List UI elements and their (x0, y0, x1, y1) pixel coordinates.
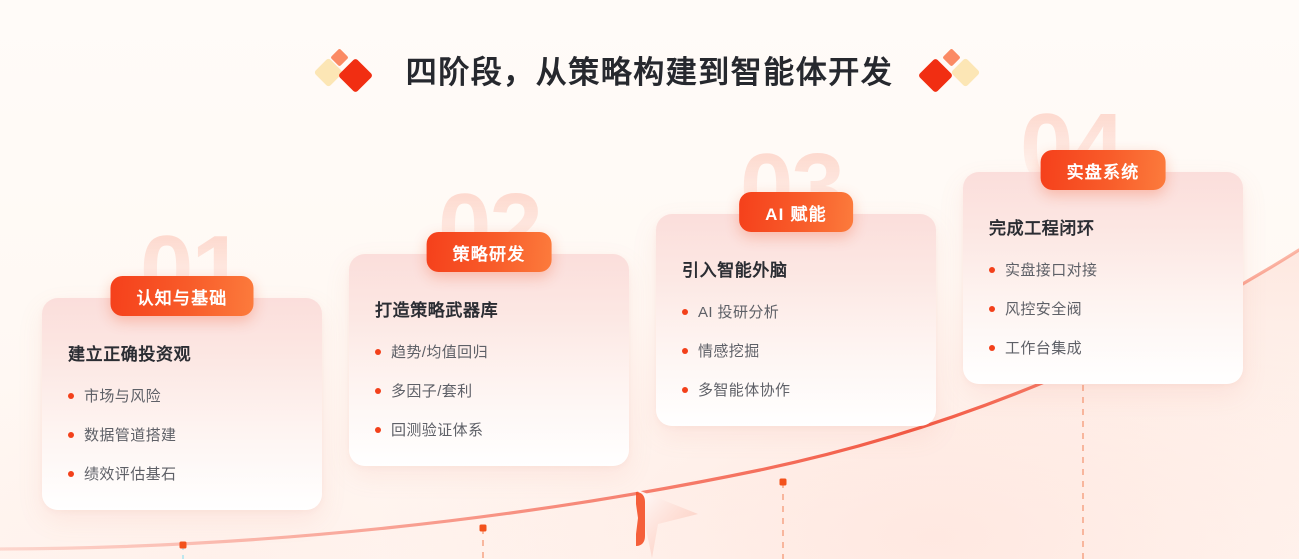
bullet-dot-icon (375, 427, 381, 433)
page-title-row: 四阶段，从策略构建到智能体开发 (0, 50, 1299, 94)
stage-item: 情感挖掘 (682, 340, 910, 361)
stage-item-label: AI 投研分析 (698, 301, 779, 322)
stage-card-2[interactable]: 策略研发 打造策略武器库 趋势/均值回归 多因子/套利 回测验证体系 (349, 254, 629, 466)
bullet-dot-icon (989, 306, 995, 312)
stage-item-label: 趋势/均值回归 (391, 341, 488, 362)
stage-item: 工作台集成 (989, 337, 1217, 358)
diamond-cluster-left-icon (318, 50, 380, 94)
stage-item-label: 回测验证体系 (391, 419, 483, 440)
stage-badge-3: AI 赋能 (739, 192, 853, 232)
stage-card-4[interactable]: 实盘系统 完成工程闭环 实盘接口对接 风控安全阀 工作台集成 (963, 172, 1243, 384)
bullet-dot-icon (682, 387, 688, 393)
stage-card-body-4: 完成工程闭环 实盘接口对接 风控安全阀 工作台集成 (963, 172, 1243, 384)
stage-item-label: 风控安全阀 (1005, 298, 1082, 319)
stage-heading-2: 打造策略武器库 (375, 296, 603, 321)
stage-item: 多智能体协作 (682, 379, 910, 400)
stage-badge-2: 策略研发 (427, 232, 552, 272)
stage-item: 回测验证体系 (375, 419, 603, 440)
stage-heading-4: 完成工程闭环 (989, 214, 1217, 239)
stage-item-label: 市场与风险 (84, 385, 161, 406)
stage-item: 数据管道搭建 (68, 424, 296, 445)
stage-item: 趋势/均值回归 (375, 341, 603, 362)
stage-card-1[interactable]: 认知与基础 建立正确投资观 市场与风险 数据管道搭建 绩效评估基石 (42, 298, 322, 510)
bullet-dot-icon (68, 471, 74, 477)
bullet-dot-icon (375, 388, 381, 394)
bullet-dot-icon (68, 432, 74, 438)
stage-item-label: 多因子/套利 (391, 380, 473, 401)
stage-badge-4: 实盘系统 (1041, 150, 1166, 190)
stage-item: 市场与风险 (68, 385, 296, 406)
stage-item-label: 数据管道搭建 (84, 424, 176, 445)
stage-item-label: 多智能体协作 (698, 379, 790, 400)
infographic-stage: 01 02 03 04 (0, 0, 1299, 559)
stage-item-label: 实盘接口对接 (1005, 259, 1097, 280)
bullet-dot-icon (989, 345, 995, 351)
stage-heading-1: 建立正确投资观 (68, 340, 296, 365)
bullet-dot-icon (375, 349, 381, 355)
bullet-dot-icon (68, 393, 74, 399)
stage-item: 绩效评估基石 (68, 463, 296, 484)
stage-item: 多因子/套利 (375, 380, 603, 401)
diamond-cluster-right-icon (919, 50, 981, 94)
stage-item-label: 工作台集成 (1005, 337, 1082, 358)
stage-card-body-1: 建立正确投资观 市场与风险 数据管道搭建 绩效评估基石 (42, 298, 322, 510)
bullet-dot-icon (682, 309, 688, 315)
stage-item: 实盘接口对接 (989, 259, 1217, 280)
stage-item-label: 绩效评估基石 (84, 463, 176, 484)
bullet-dot-icon (682, 348, 688, 354)
stage-badge-1: 认知与基础 (111, 276, 254, 316)
stage-heading-3: 引入智能外脑 (682, 256, 910, 281)
stage-item-label: 情感挖掘 (698, 340, 760, 361)
stage-card-body-3: 引入智能外脑 AI 投研分析 情感挖掘 多智能体协作 (656, 214, 936, 426)
stage-card-3[interactable]: AI 赋能 引入智能外脑 AI 投研分析 情感挖掘 多智能体协作 (656, 214, 936, 426)
stage-item: 风控安全阀 (989, 298, 1217, 319)
page-title: 四阶段，从策略构建到智能体开发 (406, 57, 894, 88)
stage-item: AI 投研分析 (682, 301, 910, 322)
stage-card-body-2: 打造策略武器库 趋势/均值回归 多因子/套利 回测验证体系 (349, 254, 629, 466)
bullet-dot-icon (989, 267, 995, 273)
